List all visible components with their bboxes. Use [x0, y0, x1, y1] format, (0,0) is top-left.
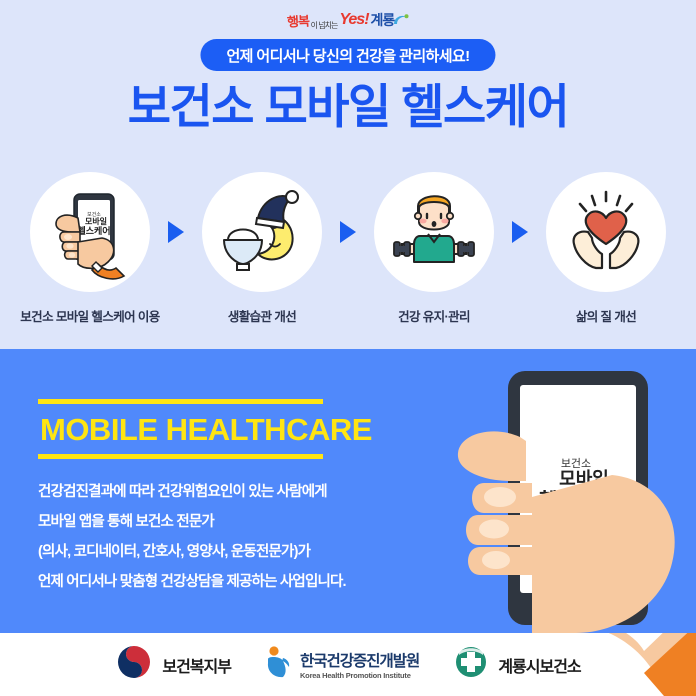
logo-label-ko: 한국건강증진개발원	[300, 653, 419, 670]
triangle-right-icon	[337, 172, 359, 292]
triangle-right-icon	[165, 172, 187, 292]
city-logo-middle: 이 넘치는	[311, 20, 338, 33]
description-line-4: 언제 어디서나 맞춤형 건강상담을 제공하는 사업입니다.	[38, 567, 438, 597]
footer-logos: 보건복지부 한국건강증진개발원 Korea Health Promotion I…	[0, 633, 696, 696]
logo-label: 보건복지부	[162, 653, 231, 677]
city-logo-happy: 행복	[286, 10, 309, 30]
mobile-healthcare-heading: MOBILE HEALTHCARE	[38, 404, 368, 454]
step-label: 삶의 질 개선	[576, 306, 636, 325]
logo-gyeryong-health-center: 계룡시보건소	[453, 644, 580, 685]
step-label: 건강 유지·관리	[398, 306, 470, 325]
triangle-right-icon	[509, 172, 531, 292]
page-title: 보건소 모바일 헬스케어	[0, 76, 696, 138]
hand-holding-phone-icon: 보건소 모바일 헬스케어	[40, 180, 140, 285]
step-health-maintenance: 건강 유지·관리	[359, 172, 509, 325]
khepi-person-icon	[265, 645, 291, 684]
mobile-healthcare-heading-block: MOBILE HEALTHCARE	[38, 399, 368, 459]
step-label: 생활습관 개선	[228, 306, 296, 325]
description-line-1: 건강검진결과에 따라 건강위험요인이 있는 사람에게	[38, 477, 438, 507]
heading-rule-bottom	[38, 454, 323, 459]
step-icon-circle	[202, 172, 322, 292]
logo-label: 한국건강증진개발원 Korea Health Promotion Institu…	[300, 649, 419, 680]
bird-swoosh-icon	[393, 13, 409, 27]
sleeve-corner-decoration	[586, 633, 696, 696]
city-brand-logo: 행복 이 넘치는 Yes! 계룡	[0, 7, 696, 33]
svg-text:헬스케어: 헬스케어	[77, 225, 110, 237]
step-quality-of-life: 삶의 질 개선	[531, 172, 681, 325]
svg-text:모바일: 모바일	[85, 216, 107, 226]
hand-holding-phone-illustration: 보건소 모바일 헬스케어	[436, 349, 696, 633]
step-label: 보건소 모바일 헬스케어 이용	[20, 306, 159, 325]
logo-mohw: 보건복지부	[115, 643, 231, 686]
hands-holding-heart-icon	[558, 182, 654, 283]
logo-khepi: 한국건강증진개발원 Korea Health Promotion Institu…	[265, 645, 419, 684]
description-text: 건강검진결과에 따라 건강위험요인이 있는 사람에게 모바일 앱을 통해 보건소…	[38, 477, 438, 597]
tagline-banner: 언제 어디서나 당신의 건강을 관리하세요!	[200, 39, 495, 71]
logo-label-en: Korea Health Promotion Institute	[300, 671, 419, 680]
city-logo-yes: Yes!	[339, 11, 368, 29]
green-cross-icon	[453, 644, 489, 685]
process-steps: 보건소 모바일 헬스케어	[0, 172, 696, 332]
step-mobile-healthcare-use: 보건소 모바일 헬스케어	[15, 172, 165, 325]
man-lifting-dumbbells-icon	[386, 182, 482, 283]
logo-label: 계룡시보건소	[498, 653, 580, 677]
step-icon-circle	[546, 172, 666, 292]
rice-bowl-sleeping-moon-icon	[214, 182, 310, 283]
top-section: 행복 이 넘치는 Yes! 계룡 언제 어디서나 당신의 건강을 관리하세요! …	[0, 0, 696, 349]
infographic-poster: 행복 이 넘치는 Yes! 계룡 언제 어디서나 당신의 건강을 관리하세요! …	[0, 0, 696, 696]
step-icon-circle	[374, 172, 494, 292]
taegeuk-icon	[115, 643, 153, 686]
description-line-3: (의사, 코디네이터, 간호사, 영양사, 운동전문가)가	[38, 537, 438, 567]
step-lifestyle-improvement: 생활습관 개선	[187, 172, 337, 325]
step-icon-circle: 보건소 모바일 헬스케어	[30, 172, 150, 292]
city-logo-city: 계룡	[371, 10, 395, 30]
description-line-2: 모바일 앱을 통해 보건소 전문가	[38, 507, 438, 537]
blue-info-panel: MOBILE HEALTHCARE 건강검진결과에 따라 건강위험요인이 있는 …	[0, 349, 696, 633]
